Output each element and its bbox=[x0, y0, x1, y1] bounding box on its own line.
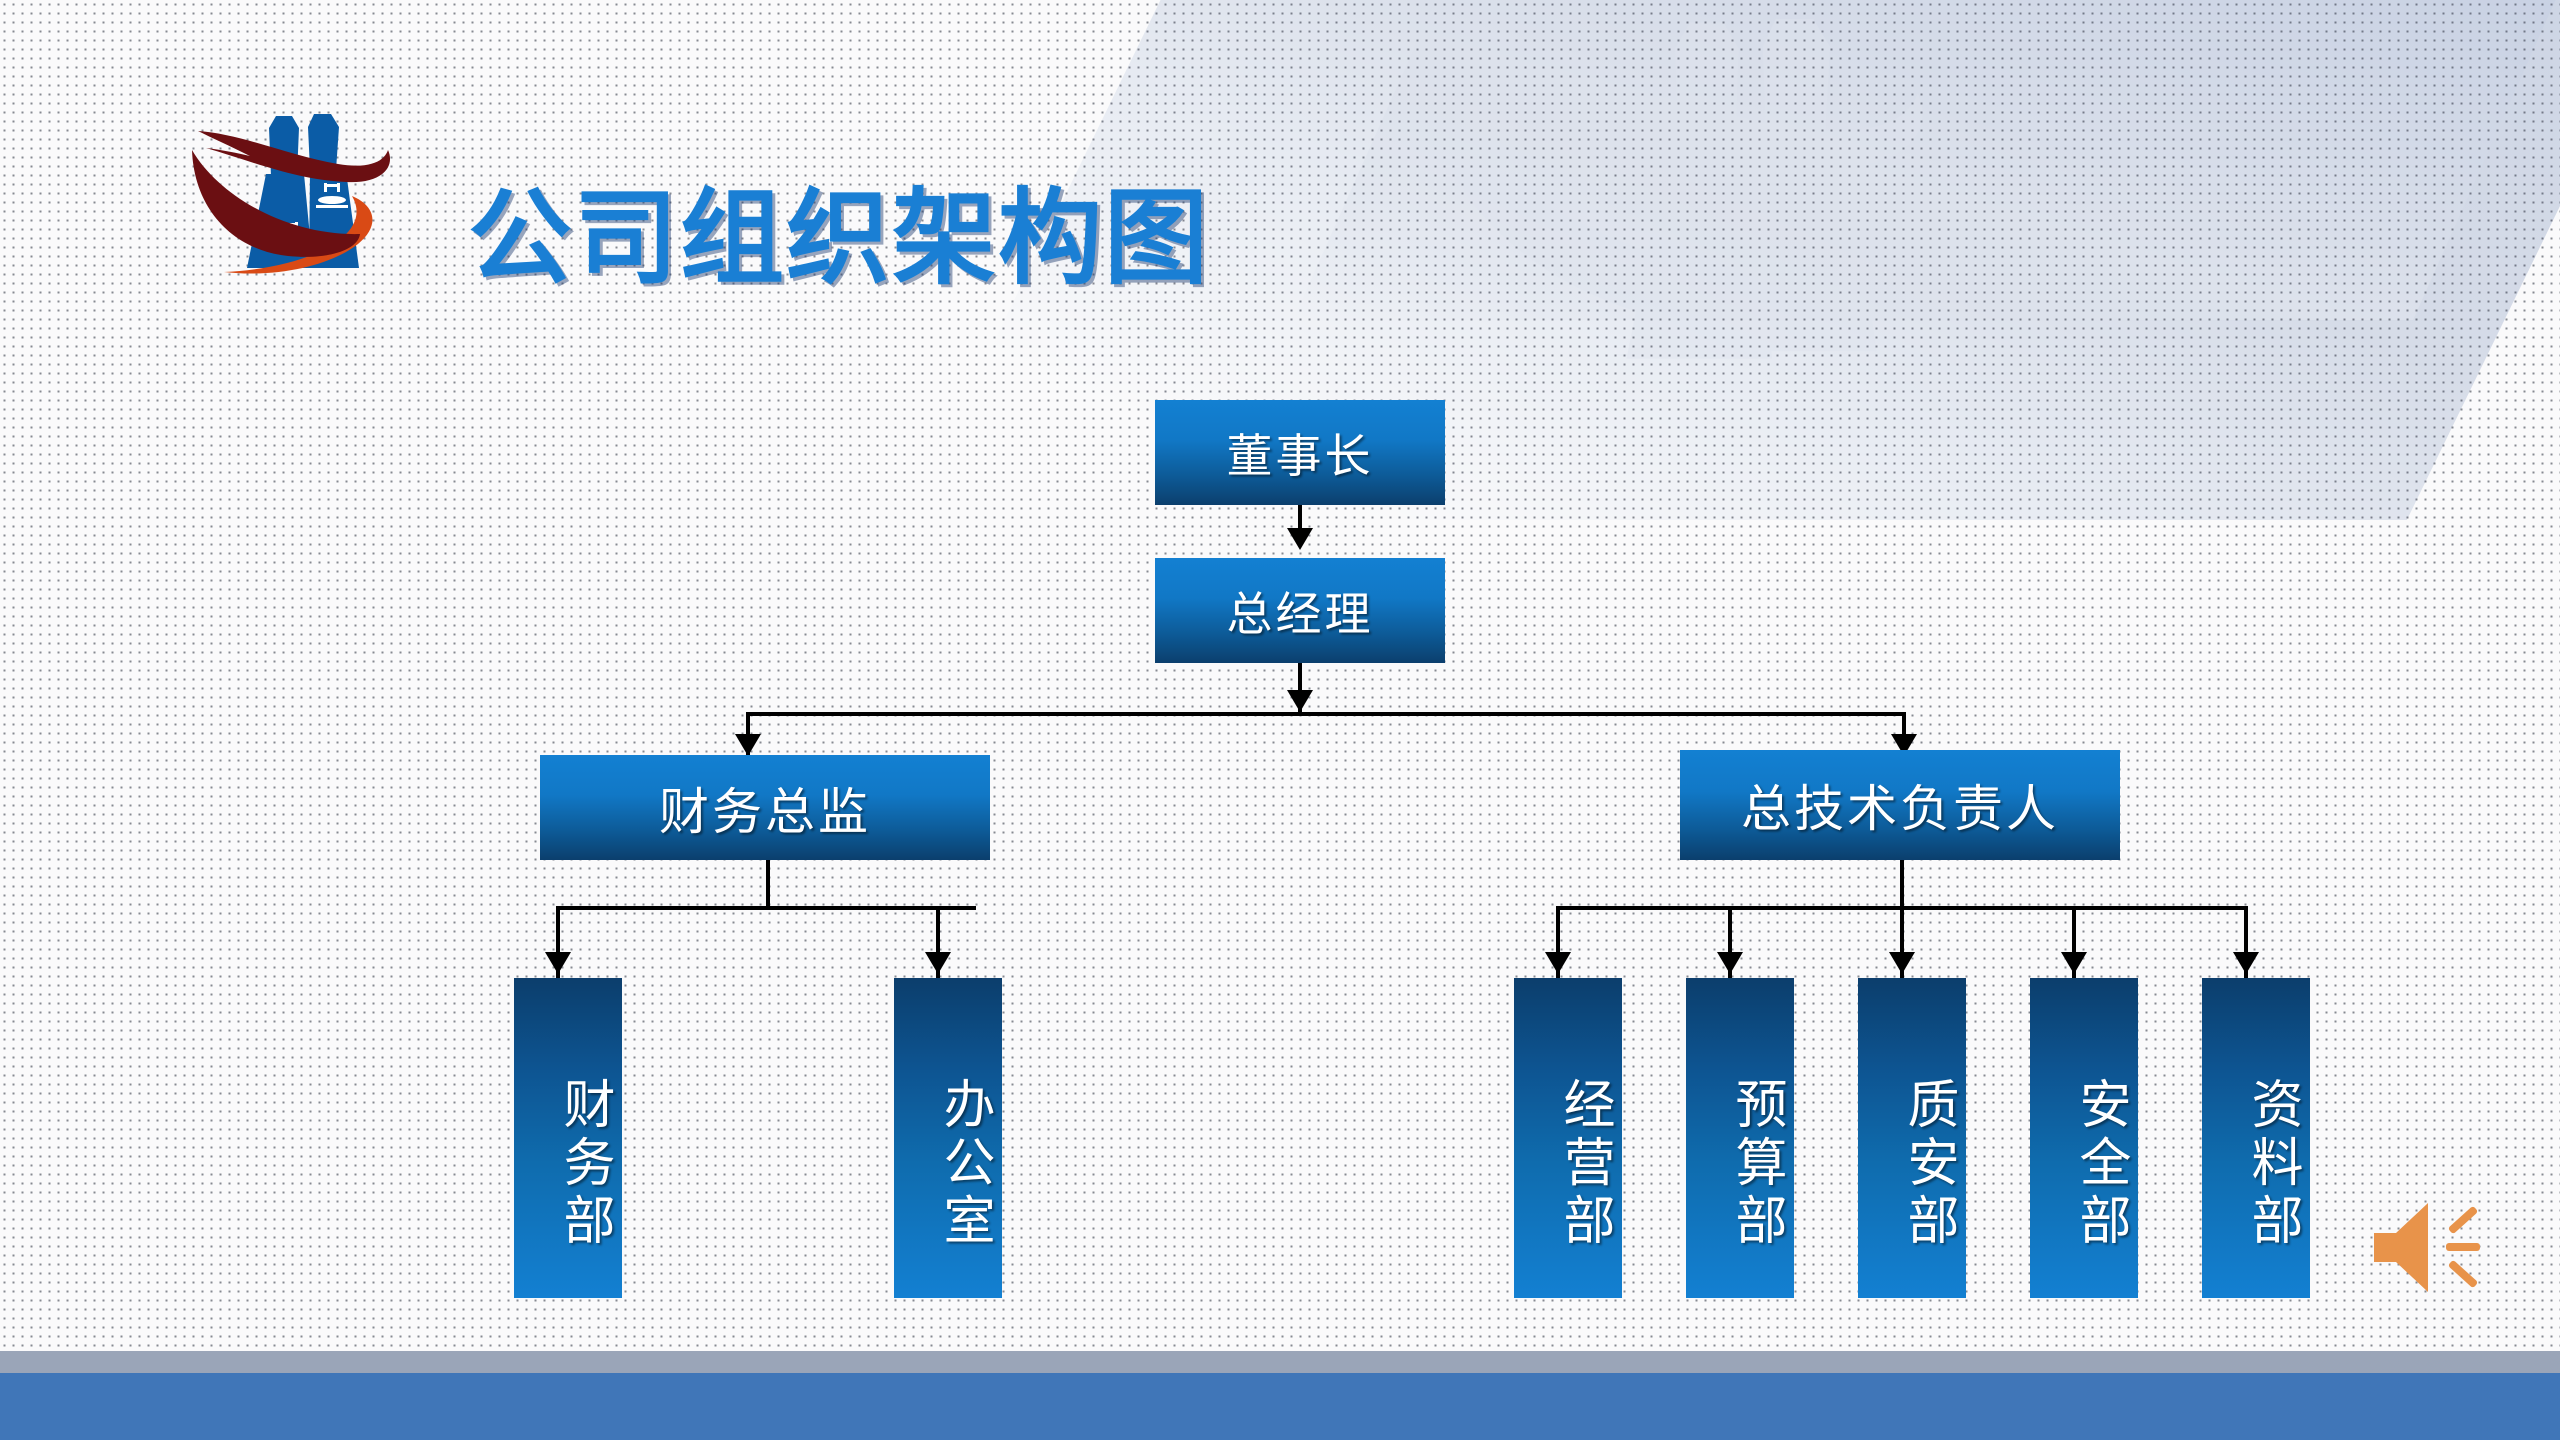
company-logo bbox=[180, 98, 395, 288]
connector-level2-bus bbox=[746, 712, 1906, 716]
page-title: 公司组织架构图 bbox=[468, 185, 1210, 294]
arrowhead-safety bbox=[2061, 952, 2087, 974]
org-node-budget-department[interactable]: 预算部 bbox=[1686, 978, 1794, 1298]
connector-cfo-bus bbox=[556, 906, 976, 910]
arrowhead-cfo bbox=[735, 734, 761, 756]
arrowhead-budget bbox=[1717, 952, 1743, 974]
logo-watermark bbox=[1410, 0, 1970, 400]
org-node-office[interactable]: 办公室 bbox=[894, 978, 1002, 1298]
org-node-chairman[interactable]: 董事长 bbox=[1155, 400, 1445, 505]
arrowhead-finance bbox=[545, 952, 571, 974]
org-node-operation-department[interactable]: 经营部 bbox=[1514, 978, 1622, 1298]
org-node-chief-technical-officer[interactable]: 总技术负责人 bbox=[1680, 750, 2120, 860]
speaker-audio-icon[interactable] bbox=[2370, 1195, 2490, 1300]
arrowhead-archive bbox=[2233, 952, 2259, 974]
footer-band bbox=[0, 1373, 2560, 1440]
arrowhead-gm-down bbox=[1287, 690, 1313, 712]
connector-cto-down bbox=[1900, 858, 1904, 908]
org-node-finance-department[interactable]: 财务部 bbox=[514, 978, 622, 1298]
arrowhead-office bbox=[925, 952, 951, 974]
org-node-quality-safety-department[interactable]: 质安部 bbox=[1858, 978, 1966, 1298]
org-node-safety-department[interactable]: 安全部 bbox=[2030, 978, 2138, 1298]
connector-cfo-down bbox=[766, 858, 770, 908]
org-node-general-manager[interactable]: 总经理 bbox=[1155, 558, 1445, 663]
arrowhead-quality bbox=[1889, 952, 1915, 974]
arrowhead-gm bbox=[1287, 528, 1313, 550]
slide-canvas: 公司组织架构图 董事长 总经理 财务总监 总技术负责人 财务部 办公室 经营部 … bbox=[0, 0, 2560, 1440]
org-node-finance-director[interactable]: 财务总监 bbox=[540, 755, 990, 860]
org-node-archive-department[interactable]: 资料部 bbox=[2202, 978, 2310, 1298]
arrowhead-operation bbox=[1545, 952, 1571, 974]
footer-divider-strip bbox=[0, 1351, 2560, 1373]
